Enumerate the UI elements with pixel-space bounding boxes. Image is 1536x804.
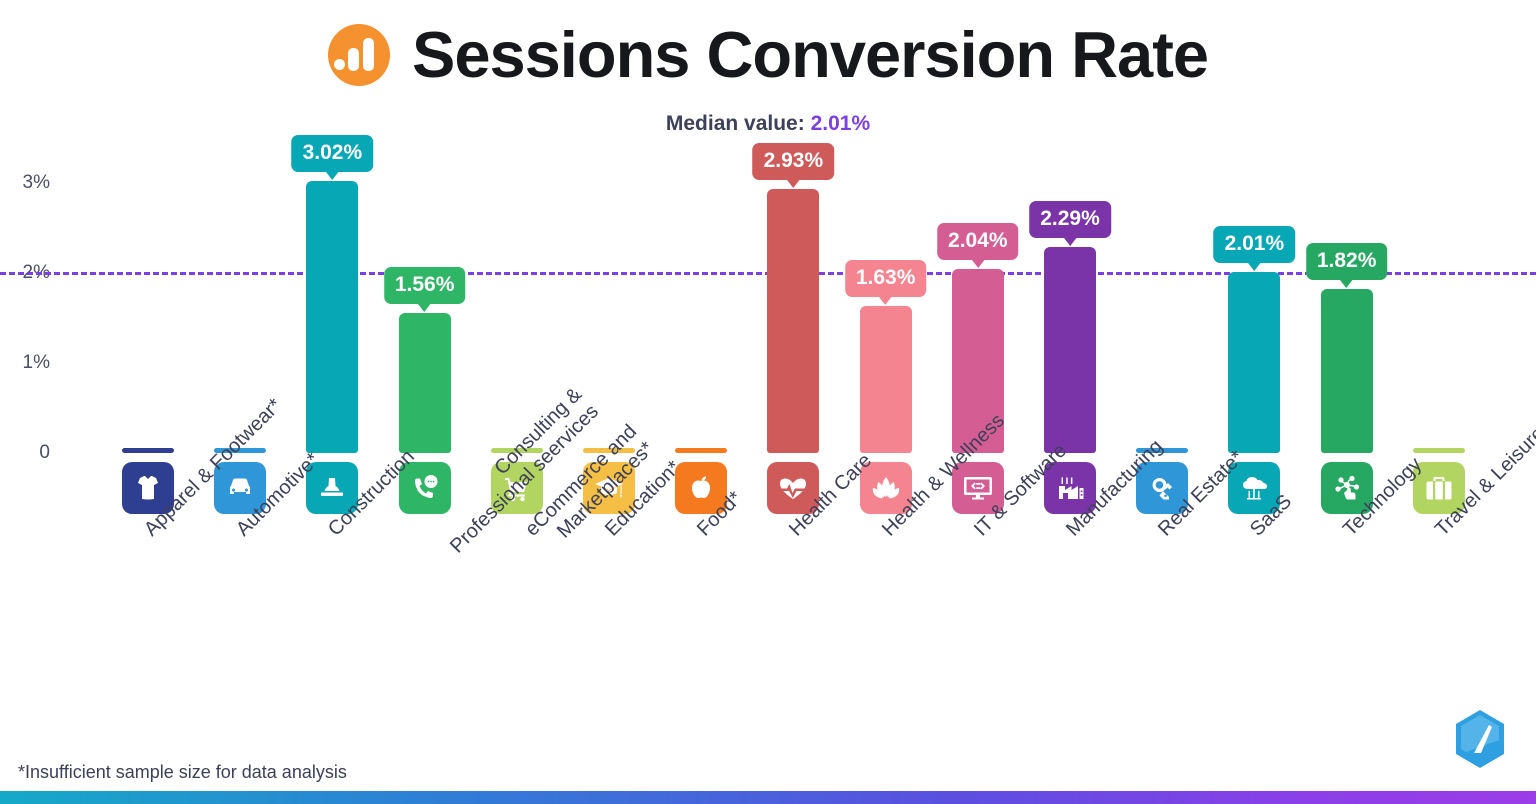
bar-value-label: 1.82% — [1306, 243, 1388, 280]
bar-zero-stub[interactable] — [1413, 448, 1465, 453]
bar-value-label: 1.56% — [384, 267, 466, 304]
bar-value-label: 2.01% — [1214, 226, 1296, 263]
bar-zero-stub[interactable] — [122, 448, 174, 453]
bar-value-label: 2.04% — [937, 223, 1019, 260]
bar-value-label: 2.93% — [753, 143, 835, 180]
footnote: *Insufficient sample size for data analy… — [18, 762, 347, 783]
y-axis-tick: 3% — [0, 172, 50, 194]
bar[interactable] — [1044, 247, 1096, 453]
hexagon-slash-logo — [1452, 708, 1508, 770]
bar[interactable] — [860, 306, 912, 453]
bar[interactable] — [1228, 272, 1280, 453]
bar[interactable] — [767, 189, 819, 453]
bar-chart: 01%2%3% 3.02%1.56%2.93%1.63%2.04%2.29%2.… — [0, 0, 1536, 804]
bar-value-label: 3.02% — [292, 135, 374, 172]
y-axis-tick: 0 — [0, 442, 50, 464]
bar[interactable] — [399, 313, 451, 453]
bar-value-label: 2.29% — [1029, 201, 1111, 238]
y-axis-tick: 1% — [0, 352, 50, 374]
bar-value-label: 1.63% — [845, 260, 927, 297]
bar[interactable] — [306, 181, 358, 453]
footer-gradient-bar — [0, 791, 1536, 804]
bar-zero-stub[interactable] — [675, 448, 727, 453]
bar[interactable] — [1321, 289, 1373, 453]
